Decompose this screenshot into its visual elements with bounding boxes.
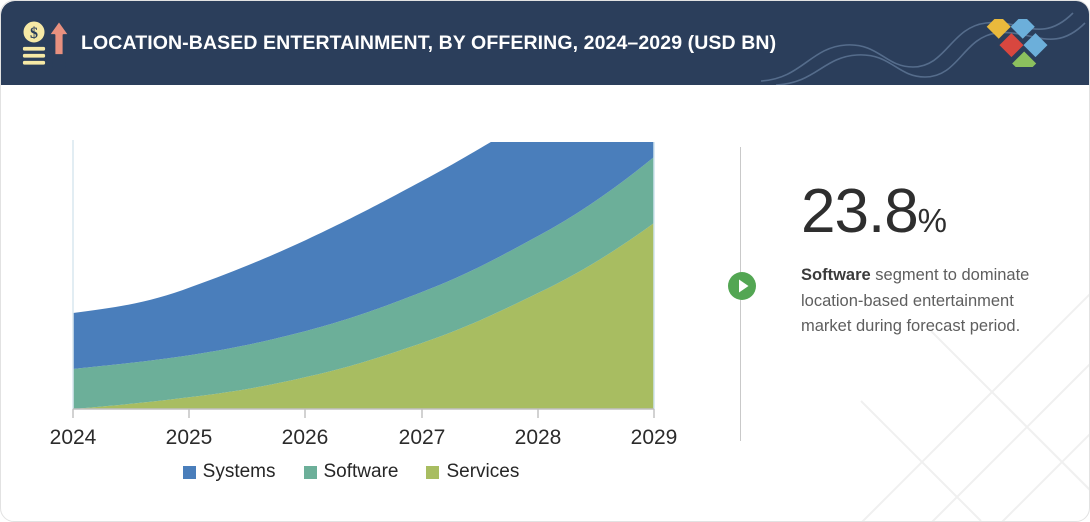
legend-swatch-services xyxy=(426,466,439,479)
legend-item-systems[interactable]: Systems xyxy=(183,461,276,483)
header-bar: $ LOCATION-BASED ENTERTAINMENT, BY OFFER… xyxy=(1,1,1090,85)
x-tick-label: 2029 xyxy=(631,426,678,449)
money-growth-icon: $ xyxy=(15,15,73,73)
infographic-card: $ LOCATION-BASED ENTERTAINMENT, BY OFFER… xyxy=(0,0,1090,522)
svg-text:$: $ xyxy=(30,25,38,42)
diamonds-logo xyxy=(981,19,1073,67)
x-axis-ticks xyxy=(73,409,654,418)
legend-swatch-systems xyxy=(183,466,196,479)
legend-item-software[interactable]: Software xyxy=(304,461,399,483)
stat-number: 23.8 xyxy=(801,177,918,246)
legend-label: Systems xyxy=(203,461,276,483)
callout-description: Software segment to dominate location-ba… xyxy=(801,263,1059,340)
callout-highlight: Software xyxy=(801,266,871,284)
legend-label: Software xyxy=(324,461,399,483)
callout-panel: 23.8% Software segment to dominate locat… xyxy=(801,181,1059,340)
x-tick-label: 2024 xyxy=(50,426,97,449)
stat-value: 23.8% xyxy=(801,181,1059,243)
x-tick-label: 2026 xyxy=(282,426,329,449)
chart-area: 2024 2025 2026 2027 2028 2029 xyxy=(1,85,701,522)
stat-percent-sign: % xyxy=(918,202,947,239)
legend-swatch-software xyxy=(304,466,317,479)
play-circle-icon xyxy=(727,271,757,301)
x-tick-label: 2027 xyxy=(399,426,446,449)
chart-legend: Systems Software Services xyxy=(1,461,701,483)
stacked-area-chart: 2024 2025 2026 2027 2028 2029 xyxy=(1,85,701,522)
legend-item-services[interactable]: Services xyxy=(426,461,519,483)
x-tick-label: 2025 xyxy=(166,426,213,449)
page-title: LOCATION-BASED ENTERTAINMENT, BY OFFERIN… xyxy=(81,1,776,85)
legend-label: Services xyxy=(446,461,519,483)
x-tick-label: 2028 xyxy=(515,426,562,449)
